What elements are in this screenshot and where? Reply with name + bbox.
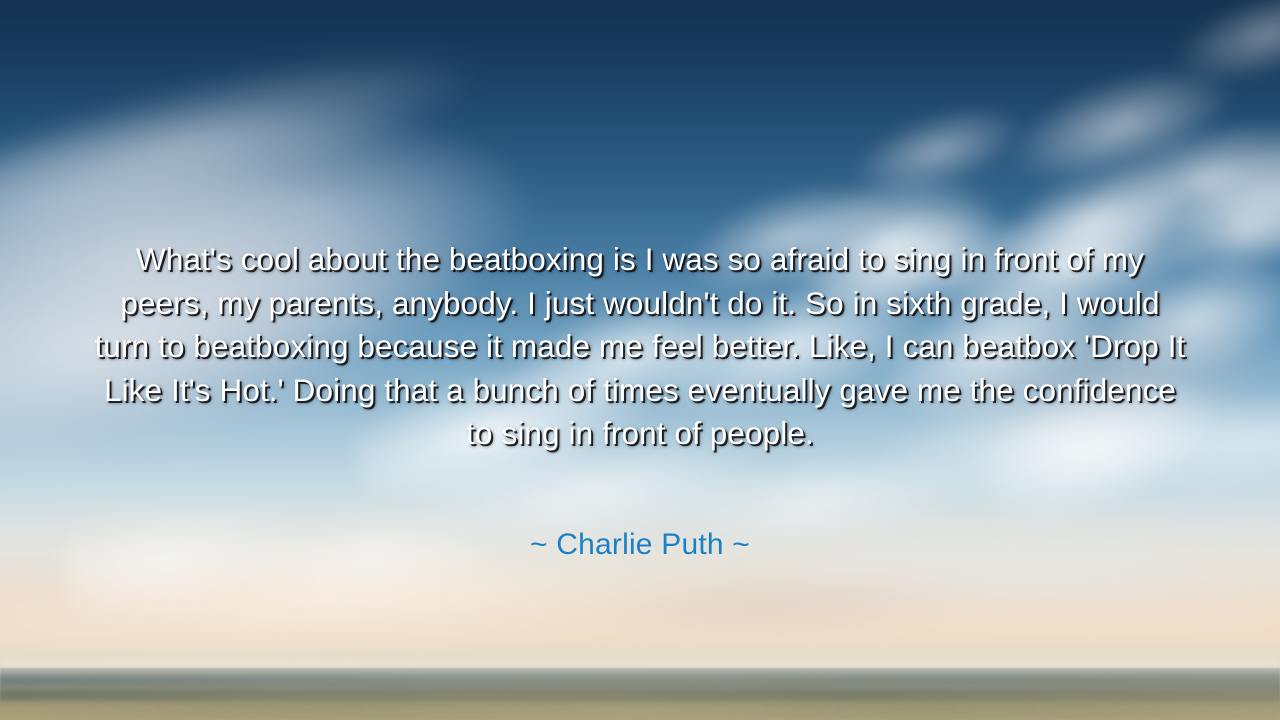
quote-card: What's cool about the beatboxing is I wa…: [0, 0, 1280, 720]
quote-text: What's cool about the beatboxing is I wa…: [90, 238, 1190, 456]
quote-block: What's cool about the beatboxing is I wa…: [90, 238, 1190, 456]
quote-attribution: ~ Charlie Puth ~: [190, 527, 1090, 563]
text-overlay: What's cool about the beatboxing is I wa…: [0, 0, 1280, 720]
